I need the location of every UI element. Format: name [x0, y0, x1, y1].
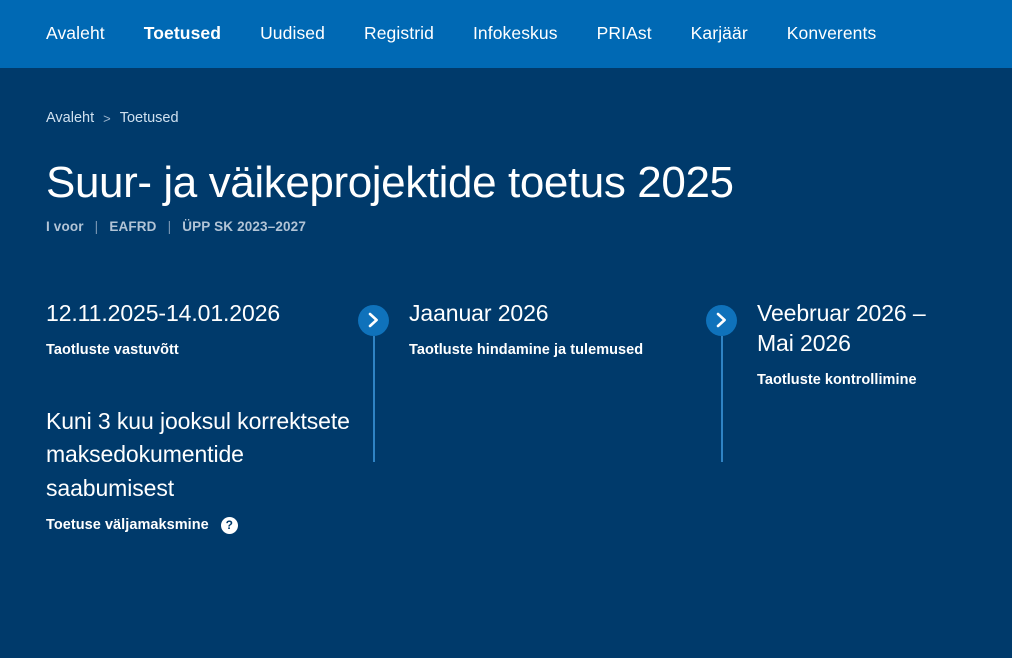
- timeline-step-2-content: Jaanuar 2026 Taotluste hindamine ja tule…: [409, 298, 659, 361]
- breadcrumb: Avaleht > Toetused: [46, 110, 966, 126]
- timeline-step-1-label: Taotluste vastuvõtt: [46, 340, 338, 361]
- timeline-step-1-date: 12.11.2025-14.01.2026: [46, 298, 338, 328]
- page-content: Avaleht > Toetused Suur- ja väikeprojekt…: [0, 110, 1012, 534]
- timeline-step-2-label: Taotluste hindamine ja tulemused: [409, 340, 659, 361]
- payout-description: Kuni 3 kuu jooksul korrektsete maksedoku…: [46, 405, 376, 505]
- main-navigation: Avaleht Toetused Uudised Registrid Infok…: [0, 0, 1012, 68]
- timeline-step-2-marker: [358, 305, 389, 336]
- process-timeline: 12.11.2025-14.01.2026 Taotluste vastuvõt…: [46, 298, 966, 391]
- payout-block: Kuni 3 kuu jooksul korrektsete maksedoku…: [46, 405, 376, 534]
- timeline-step-2: Jaanuar 2026 Taotluste hindamine ja tule…: [358, 298, 706, 361]
- nav-item-konverents[interactable]: Konverents: [787, 19, 877, 49]
- payout-label-row: Toetuse väljamaksmine ?: [46, 517, 376, 534]
- timeline-step-1: 12.11.2025-14.01.2026 Taotluste vastuvõt…: [46, 298, 358, 361]
- timeline-connector-line: [721, 336, 723, 462]
- meta-separator-2: |: [168, 219, 172, 234]
- meta-round: I voor: [46, 219, 84, 234]
- nav-item-toetused[interactable]: Toetused: [144, 19, 221, 49]
- breadcrumb-home[interactable]: Avaleht: [46, 110, 94, 126]
- header-meta: I voor | EAFRD | ÜPP SK 2023–2027: [46, 219, 966, 234]
- nav-item-infokeskus[interactable]: Infokeskus: [473, 19, 558, 49]
- timeline-step-3-marker: [706, 305, 737, 336]
- timeline-step-3-date: Veebruar 2026 – Mai 2026: [757, 298, 966, 359]
- breadcrumb-separator-icon: >: [103, 111, 111, 126]
- nav-item-avaleht[interactable]: Avaleht: [46, 19, 105, 49]
- meta-programme: ÜPP SK 2023–2027: [182, 219, 306, 234]
- timeline-step-3-content: Veebruar 2026 – Mai 2026 Taotluste kontr…: [757, 298, 966, 391]
- chevron-right-icon[interactable]: [706, 305, 737, 336]
- timeline-step-3-label: Taotluste kontrollimine: [757, 370, 966, 391]
- timeline-connector-line: [373, 336, 375, 462]
- nav-item-karjaar[interactable]: Karjäär: [691, 19, 748, 49]
- help-icon[interactable]: ?: [221, 517, 238, 534]
- payout-label: Toetuse väljamaksmine: [46, 517, 209, 533]
- meta-fund: EAFRD: [109, 219, 156, 234]
- timeline-step-1-content: 12.11.2025-14.01.2026 Taotluste vastuvõt…: [46, 298, 338, 361]
- timeline-step-2-date: Jaanuar 2026: [409, 298, 659, 328]
- nav-item-priast[interactable]: PRIAst: [597, 19, 652, 49]
- nav-item-registrid[interactable]: Registrid: [364, 19, 434, 49]
- breadcrumb-current[interactable]: Toetused: [120, 110, 179, 126]
- chevron-right-icon[interactable]: [358, 305, 389, 336]
- page-title: Suur- ja väikeprojektide toetus 2025: [46, 160, 966, 207]
- meta-separator-1: |: [95, 219, 99, 234]
- timeline-step-3: Veebruar 2026 – Mai 2026 Taotluste kontr…: [706, 298, 966, 391]
- nav-item-uudised[interactable]: Uudised: [260, 19, 325, 49]
